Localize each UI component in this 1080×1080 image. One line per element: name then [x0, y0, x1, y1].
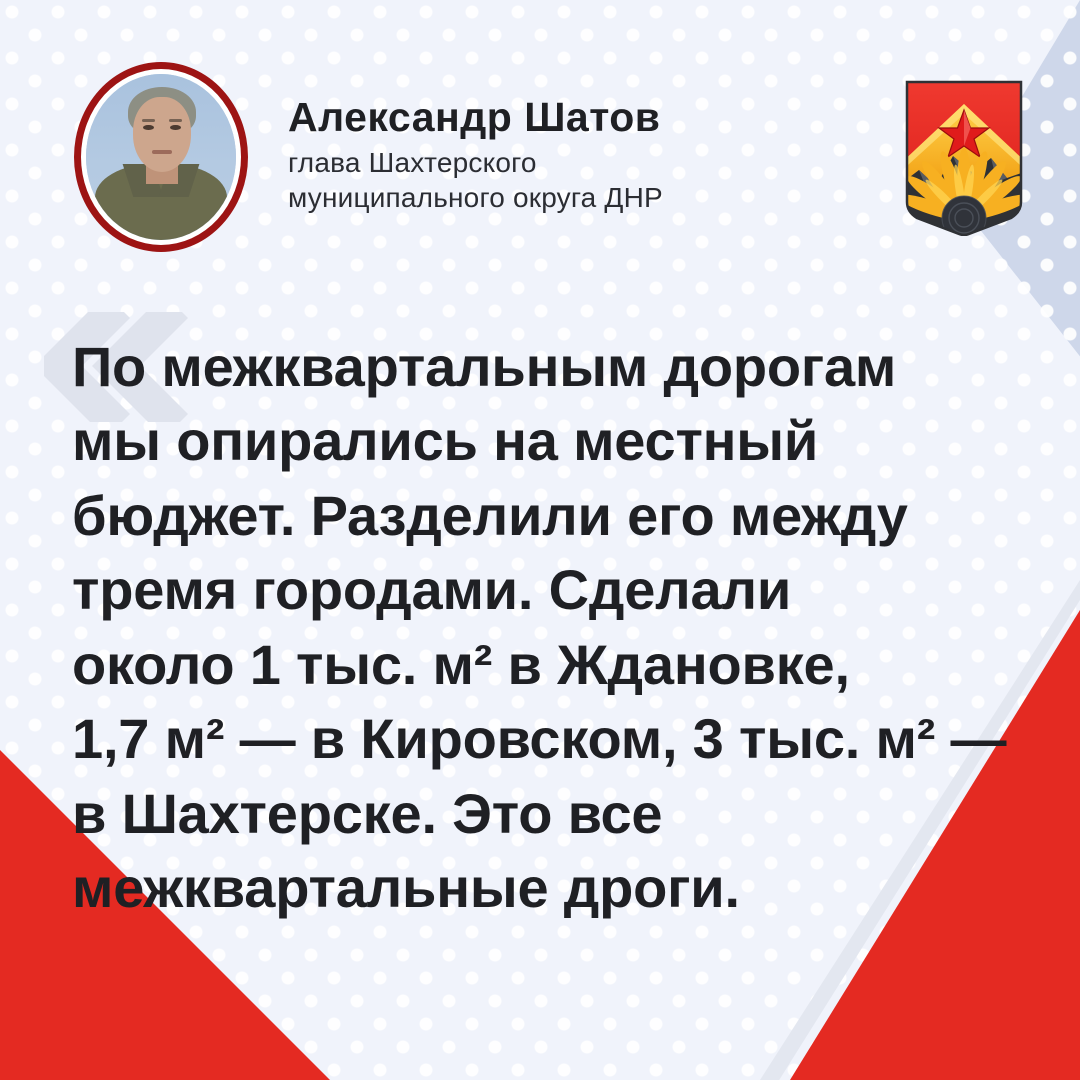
speaker-name: Александр Шатов — [288, 95, 663, 140]
quote-line: По межквартальным дорогам — [72, 330, 1002, 404]
quote-line: мы опирались на местный — [72, 404, 1002, 478]
quote-card: Александр Шатов глава Шахтерского муници… — [0, 0, 1080, 1080]
portrait-face — [133, 97, 192, 172]
quote-line: 1,7 м² — в Кировском, 3 тыс. м² — — [72, 702, 1002, 776]
quote-line: тремя городами. Сделали — [72, 553, 1002, 627]
coat-of-arms-icon — [903, 78, 1025, 236]
portrait-brow-left — [142, 119, 156, 122]
speaker-header: Александр Шатов глава Шахтерского муници… — [74, 62, 1020, 252]
avatar — [74, 62, 248, 252]
quote-text: По межквартальным дорогам мы опирались н… — [72, 330, 1002, 926]
portrait-illustration — [86, 74, 236, 240]
speaker-role-line-1: глава Шахтерского — [288, 146, 663, 181]
avatar-photo — [86, 74, 236, 240]
portrait-mouth — [152, 150, 172, 153]
speaker-role: глава Шахтерского муниципального округа … — [288, 146, 663, 215]
quote-line: межквартальные дроги. — [72, 851, 1002, 925]
quote-line: около 1 тыс. м² в Ждановке, — [72, 628, 1002, 702]
quote-line: бюджет. Разделили его между — [72, 479, 1002, 553]
quote-line: в Шахтерске. Это все — [72, 777, 1002, 851]
portrait-brow-right — [169, 119, 183, 122]
speaker-info: Александр Шатов глава Шахтерского муници… — [288, 95, 663, 220]
speaker-role-line-2: муниципального округа ДНР — [288, 181, 663, 216]
